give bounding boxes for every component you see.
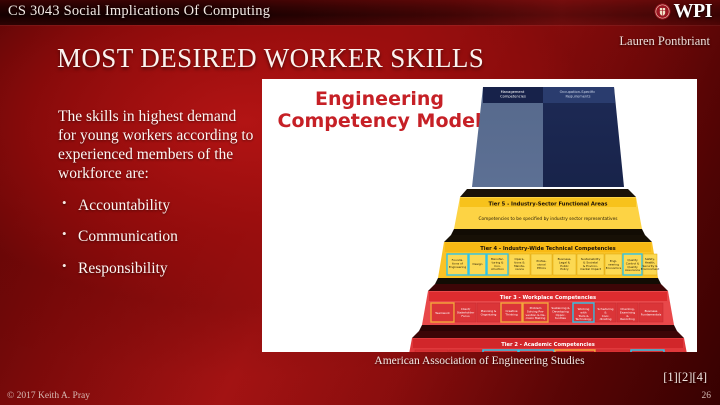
svg-text:Teamwork: Teamwork bbox=[434, 311, 450, 315]
lead-paragraph: The skills in highest demand for young w… bbox=[58, 108, 258, 184]
svg-text:Profes-sionalEthics: Profes-sionalEthics bbox=[537, 259, 547, 270]
figure-panel: Engineering Competency Model bbox=[262, 79, 697, 352]
pyramid-tier-3: Tier 3 - Workplace Competencies Teamwork… bbox=[419, 284, 677, 331]
wpi-logo: WPI bbox=[654, 1, 713, 21]
tier-3-label: Tier 3 - Workplace Competencies bbox=[500, 295, 596, 301]
body-text-column: The skills in highest demand for young w… bbox=[58, 108, 258, 292]
footer-page-number: 26 bbox=[702, 391, 712, 401]
pyramid-tier-4: Tier 4 - Industry-Wide Technical Compete… bbox=[435, 235, 661, 284]
tier-2-label: Tier 2 - Academic Competencies bbox=[501, 342, 595, 348]
tier-5-note: Competencies to be specified by industry… bbox=[479, 216, 619, 222]
pyramid-tier-5: Tier 5 - Industry-Sector Functional Area… bbox=[451, 189, 645, 235]
tier-5-label: Tier 5 - Industry-Sector Functional Area… bbox=[488, 202, 607, 208]
list-item: Communication bbox=[58, 228, 258, 246]
tier-4-label: Tier 4 - Industry-Wide Technical Compete… bbox=[480, 246, 616, 252]
pyramid-top-block: Management Competencies Occupation-Speci… bbox=[472, 87, 624, 187]
skills-list: Accountability Communication Responsibil… bbox=[58, 197, 258, 278]
wpi-seal-icon bbox=[654, 3, 671, 20]
figure-caption: American Association of Engineering Stud… bbox=[262, 355, 697, 367]
wpi-wordmark: WPI bbox=[674, 1, 713, 21]
svg-text:Opera-tions &Mainte-nance: Opera-tions &Mainte-nance bbox=[514, 257, 525, 271]
svg-text:Manufac-turing &Con-struction: Manufac-turing &Con-struction bbox=[491, 257, 504, 271]
reference-citations: [1][2][4] bbox=[663, 370, 707, 385]
list-item: Responsibility bbox=[58, 260, 258, 278]
engineering-competency-pyramid: Management Competencies Occupation-Speci… bbox=[262, 79, 697, 352]
pyramid-tier-2: Tier 2 - Academic Competencies Reading W… bbox=[403, 331, 693, 352]
list-item: Accountability bbox=[58, 197, 258, 215]
tier-2-boxes: Reading Writing Mathematics Science &Tec… bbox=[415, 350, 664, 352]
tier-4-boxes: Founda-tions ofEngineering Design Manufa… bbox=[447, 254, 660, 275]
page-title: MOST DESIRED WORKER SKILLS bbox=[57, 43, 484, 74]
author-name: Lauren Pontbriant bbox=[619, 34, 710, 49]
top-block-label-management: Management Competencies bbox=[500, 90, 526, 98]
slide-canvas: CS 3043 Social Implications Of Computing… bbox=[0, 0, 720, 405]
tier-3-boxes: Teamwork Client/StakeholderFocus Plannin… bbox=[431, 303, 663, 322]
svg-text:Design: Design bbox=[473, 262, 483, 266]
svg-text:Checking,Examining&Recording: Checking,Examining&Recording bbox=[620, 307, 635, 321]
svg-text:Planning &Organizing: Planning &Organizing bbox=[481, 309, 497, 316]
course-title: CS 3043 Social Implications Of Computing bbox=[8, 3, 270, 20]
svg-text:CreativeThinking: CreativeThinking bbox=[504, 309, 518, 316]
footer-copyright: © 2017 Keith A. Pray bbox=[7, 391, 90, 401]
